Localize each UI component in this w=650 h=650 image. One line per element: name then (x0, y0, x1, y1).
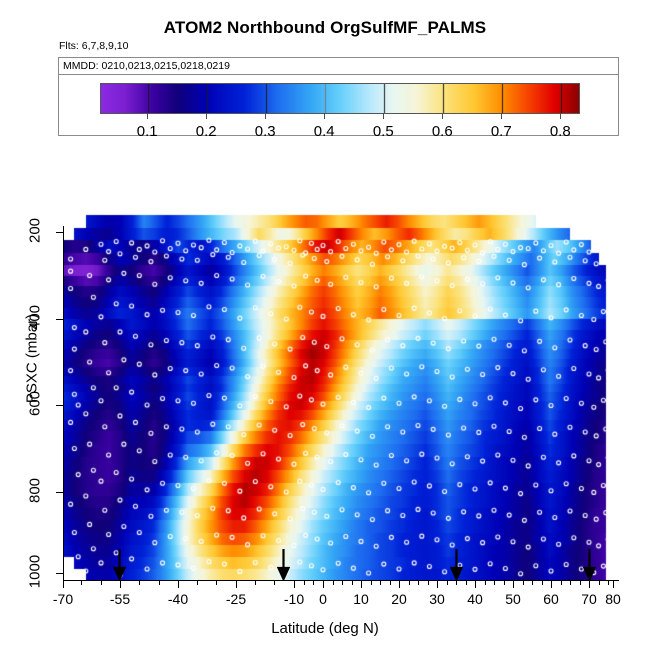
x-axis-line (63, 580, 619, 581)
x-tick-label: -25 (213, 591, 259, 607)
x-minor-tick (608, 581, 609, 585)
x-minor-tick (494, 581, 495, 585)
x-minor-tick (197, 581, 198, 585)
x-tick (551, 581, 552, 588)
x-minor-tick (81, 581, 82, 585)
x-minor-tick (532, 581, 533, 585)
y-axis-title: PSXC (mbar) (24, 299, 41, 419)
down-arrow-marker (277, 549, 290, 581)
down-arrow-marker (450, 549, 463, 581)
x-minor-tick (466, 581, 467, 585)
x-minor-tick (561, 581, 562, 585)
x-tick (399, 581, 400, 588)
x-minor-tick (599, 581, 600, 585)
x-minor-tick (570, 581, 571, 585)
plot-canvas-root: ATOM2 Northbound OrgSulfMF_PALMS Flts: 6… (0, 0, 650, 650)
y-tick (56, 319, 63, 320)
x-minor-tick (342, 581, 343, 585)
x-minor-tick (542, 581, 543, 585)
x-minor-tick (456, 581, 457, 585)
x-minor-tick (352, 581, 353, 585)
x-tick (63, 581, 64, 588)
down-arrow-marker (113, 549, 126, 581)
x-minor-tick (313, 581, 314, 585)
x-tick-label: -55 (97, 591, 143, 607)
x-tick (589, 581, 590, 588)
x-minor-tick (409, 581, 410, 585)
x-tick (513, 581, 514, 588)
x-tick (294, 581, 295, 588)
x-minor-tick (485, 581, 486, 585)
x-minor-tick (274, 581, 275, 585)
y-tick (56, 492, 63, 493)
x-tick (475, 581, 476, 588)
x-minor-tick (523, 581, 524, 585)
x-minor-tick (580, 581, 581, 585)
y-tick (56, 232, 63, 233)
x-minor-tick (159, 581, 160, 585)
x-tick (437, 581, 438, 588)
x-tick-label: -70 (40, 591, 86, 607)
x-tick (361, 581, 362, 588)
x-tick (120, 581, 121, 588)
y-tick-label: 800 (27, 471, 44, 511)
x-minor-tick (380, 581, 381, 585)
x-minor-tick (333, 581, 334, 585)
x-axis-title: Latitude (deg N) (0, 620, 650, 637)
x-minor-tick (390, 581, 391, 585)
x-minor-tick (418, 581, 419, 585)
x-minor-tick (304, 581, 305, 585)
y-tick (56, 405, 63, 406)
x-tick (613, 581, 614, 588)
x-tick (236, 581, 237, 588)
x-minor-tick (139, 581, 140, 585)
down-arrow-marker (583, 549, 596, 581)
x-minor-tick (447, 581, 448, 585)
x-minor-tick (504, 581, 505, 585)
x-minor-tick (371, 581, 372, 585)
x-minor-tick (255, 581, 256, 585)
x-tick-label: -40 (155, 591, 201, 607)
axis-layer: -70-55-40-25-100102030405060708020040060… (0, 0, 650, 650)
x-tick (323, 581, 324, 588)
y-tick-label: 1000 (27, 552, 44, 592)
y-axis-line (63, 226, 64, 580)
x-tick (178, 581, 179, 588)
x-tick-label: 80 (590, 591, 636, 607)
x-minor-tick (101, 581, 102, 585)
y-tick (56, 573, 63, 574)
x-minor-tick (216, 581, 217, 585)
y-tick-label: 200 (27, 211, 44, 251)
x-minor-tick (428, 581, 429, 585)
